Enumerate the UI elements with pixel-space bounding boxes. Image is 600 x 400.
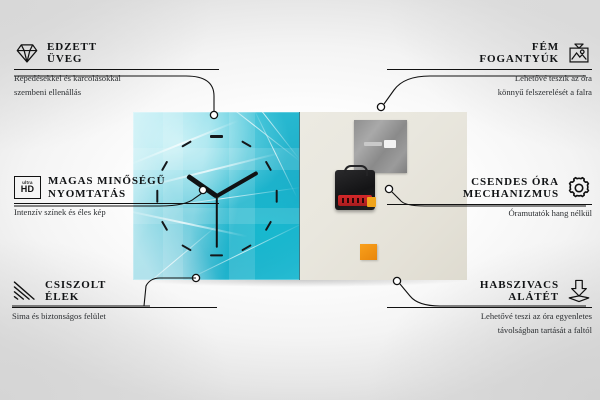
feature-title-2: NYOMTATÁS [48, 188, 165, 201]
infographic-canvas: EDZETT ÜVEG Repedésekkel és karcolásokka… [0, 0, 600, 400]
ultra-hd-icon-main: HD [21, 185, 34, 194]
feature-desc: Repedésekkel és karcolásokkal [14, 73, 219, 84]
feature-title: CSISZOLT [45, 279, 106, 292]
connector-dot-hanger [377, 103, 384, 110]
gear-icon [566, 175, 592, 201]
feature-rule [387, 204, 592, 205]
feature-rule [387, 307, 592, 308]
feature-title-2: ÜVEG [47, 53, 97, 66]
feature-title: MAGAS MINŐSÉGŰ [48, 175, 165, 188]
feature-desc: Intenzív színek és éles kép [14, 207, 219, 218]
feature-desc: Sima és biztonságos felület [12, 311, 217, 322]
feature-title-2: FOGANTYÚK [479, 53, 559, 66]
diamond-icon [14, 40, 40, 66]
feature-desc-2: könnyű felszerelését a falra [387, 87, 592, 98]
feature-csendes-ora-mechanizmus[interactable]: CSENDES ÓRA MECHANIZMUS Óramutatók hang … [387, 175, 592, 219]
feature-title: EDZETT [47, 41, 97, 54]
feature-edzett-uveg[interactable]: EDZETT ÜVEG Repedésekkel és karcolásokka… [14, 40, 219, 97]
foam-pad-arrow-icon [566, 278, 592, 304]
feature-title-2: MECHANIZMUS [463, 188, 559, 201]
feature-csiszolt-elek[interactable]: CSISZOLT ÉLEK Sima és biztonságos felüle… [12, 278, 217, 322]
feature-desc: Óramutatók hang nélkül [387, 208, 592, 219]
hatched-edge-icon [12, 278, 38, 304]
connector-dot-glass [210, 111, 217, 118]
feature-fem-fogantyuk[interactable]: FÉM FOGANTYÚK Lehetővé teszik az óra kön… [387, 40, 592, 97]
ultra-hd-icon: ultra HD [14, 176, 41, 199]
feature-desc-2: távolságban tartását a faltól [387, 325, 592, 336]
feature-magas-minosegu-nyomtatas[interactable]: ultra HD MAGAS MINŐSÉGŰ NYOMTATÁS Intenz… [14, 175, 219, 218]
picture-hanger-icon [566, 40, 592, 66]
feature-rule [14, 69, 219, 70]
feature-desc: Lehetővé teszik az óra [387, 73, 592, 84]
feature-rule [387, 69, 592, 70]
feature-rule [14, 203, 219, 204]
feature-desc-2: szembeni ellenállás [14, 87, 219, 98]
feature-habszivacs-alatet[interactable]: HABSZIVACS ALÁTÉT Lehetővé teszi az óra … [387, 278, 592, 335]
feature-rule [12, 307, 217, 308]
feature-title: HABSZIVACS [480, 279, 559, 292]
feature-title-2: ALÁTÉT [480, 291, 559, 304]
feature-title: CSENDES ÓRA [463, 176, 559, 189]
feature-title: FÉM [479, 41, 559, 54]
feature-title-2: ÉLEK [45, 291, 106, 304]
feature-desc: Lehetővé teszi az óra egyenletes [387, 311, 592, 322]
